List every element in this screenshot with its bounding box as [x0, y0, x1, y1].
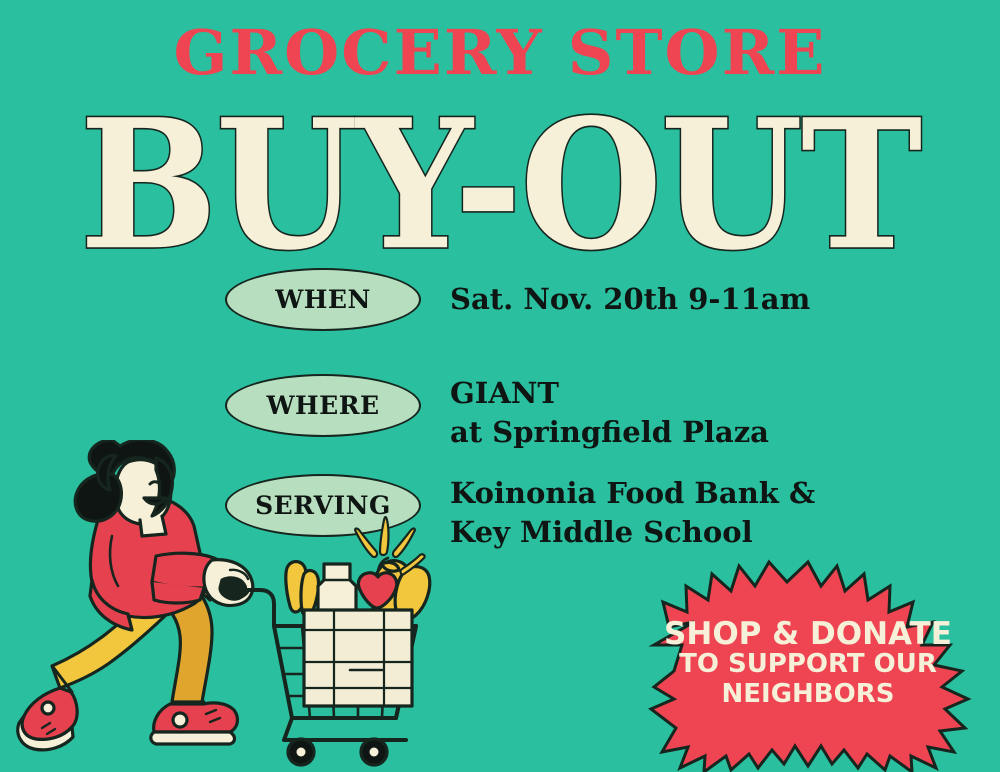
pill-label-where: WHERE: [266, 391, 379, 420]
front-shoe-dot: [173, 713, 187, 727]
front-shoe-sole: [151, 732, 235, 744]
back-shoe-dot: [42, 702, 54, 714]
poster-canvas: GROCERY STORE BUY-OUT WHEN Sat. Nov. 20t…: [0, 0, 1000, 772]
cart-handle-post: [260, 590, 274, 626]
sparkle-right: [393, 529, 415, 558]
starburst-shape: [612, 556, 1000, 772]
cart-wheel-right-hub: [370, 748, 379, 757]
cart-frame: [284, 718, 406, 740]
info-row-where: WHERE GIANT at Springfield Plaza: [0, 374, 1000, 438]
starburst-polygon: [651, 562, 968, 772]
detail-where: GIANT at Springfield Plaza: [450, 374, 769, 451]
sparkle-left: [355, 529, 377, 558]
info-row-when: WHEN Sat. Nov. 20th 9-11am: [0, 268, 1000, 332]
grocery-bag: [304, 610, 412, 706]
detail-serving: Koinonia Food Bank & Key Middle School: [450, 474, 815, 551]
sparkle-center: [380, 517, 389, 555]
shopper-illustration: [16, 440, 446, 772]
pill-where: WHERE: [225, 374, 421, 437]
pill-label-when: WHEN: [275, 285, 371, 314]
pill-when: WHEN: [225, 268, 421, 331]
mouth: [144, 498, 166, 504]
poster-headline: BUY-OUT: [5, 96, 995, 274]
cart-wheel-left-hub: [297, 748, 306, 757]
detail-when: Sat. Nov. 20th 9-11am: [450, 268, 810, 319]
front-shoe: [154, 703, 238, 732]
shop-donate-badge[interactable]: SHOP & DONATE TO SUPPORT OUR NEIGHBORS: [612, 556, 1000, 772]
apple-leaf: [382, 562, 399, 571]
poster-kicker: GROCERY STORE: [0, 22, 1000, 84]
